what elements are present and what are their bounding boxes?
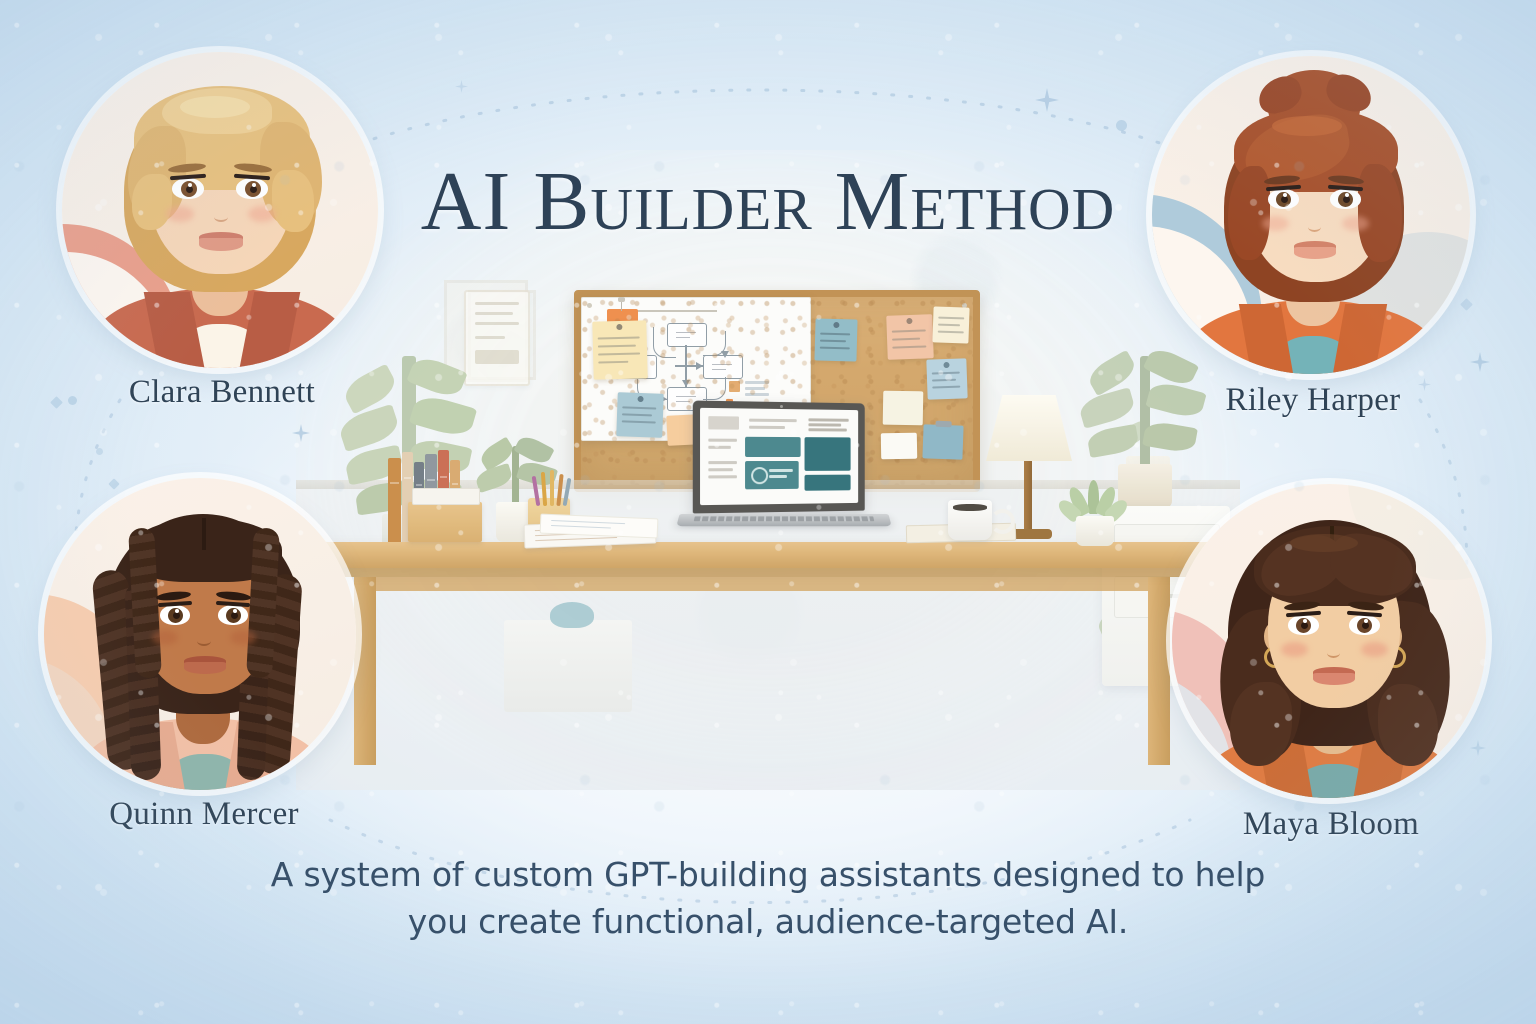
flow-arrow-horizontal	[675, 365, 703, 367]
poster-canvas: AI Builder Method	[0, 0, 1536, 1024]
sticky-note-steel	[922, 424, 963, 459]
flow-node-right	[703, 355, 743, 379]
decor-dot	[96, 448, 103, 455]
sticky-note-yellow	[592, 320, 647, 379]
desk-lamp-stem	[1024, 461, 1032, 533]
sparkle-icon	[1035, 88, 1059, 112]
sticky-note-blue	[616, 392, 664, 438]
decor-diamond	[50, 396, 63, 409]
succulent-plant	[1058, 480, 1130, 546]
assistant-name-clara-bennett: Clara Bennett	[62, 374, 382, 411]
sticky-note-white	[881, 433, 917, 460]
decor-dot	[1116, 120, 1127, 131]
coffee-mug	[948, 500, 992, 540]
avatar-hair-highlight	[1290, 534, 1358, 552]
avatar-hair-highlight	[1272, 116, 1342, 136]
sticky-note-cream	[932, 306, 969, 343]
assistant-name-riley-harper: Riley Harper	[1152, 382, 1474, 419]
page-title: AI Builder Method	[0, 160, 1536, 244]
desk-apron	[354, 577, 1170, 591]
avatar-nose	[197, 636, 211, 646]
subtitle-line-1: A system of custom GPT-building assistan…	[0, 852, 1536, 899]
desk-leg-right	[1148, 577, 1170, 765]
laptop-dashboard	[700, 408, 858, 505]
assistant-name-maya-bloom: Maya Bloom	[1172, 806, 1490, 843]
desk-edge	[302, 568, 1234, 577]
pencil	[550, 470, 554, 506]
page-subtitle: A system of custom GPT-building assistan…	[0, 852, 1536, 946]
flow-node-top	[667, 323, 707, 347]
assistant-name-quinn-mercer: Quinn Mercer	[44, 796, 364, 833]
sticky-note-teal	[814, 318, 857, 361]
avatar-hair-highlight	[180, 96, 250, 118]
sticky-note-lightblue	[926, 358, 967, 399]
avatar-nose	[1327, 648, 1340, 658]
laptop-screen	[693, 401, 865, 514]
paper-stack	[412, 488, 480, 505]
sparkle-icon	[455, 80, 468, 93]
desk-tray	[408, 502, 482, 542]
avatar-hair-part	[202, 518, 206, 550]
assistant-card-quinn-mercer[interactable]: Quinn Mercer	[44, 478, 364, 846]
decor-object	[550, 602, 594, 628]
laptop-camera-icon	[780, 405, 783, 408]
storage-box	[504, 620, 632, 712]
flow-arrow-vertical	[685, 345, 687, 387]
sticky-note-ivory	[883, 391, 924, 426]
assistant-card-maya-bloom[interactable]: Maya Bloom	[1172, 484, 1490, 852]
avatar-quinn-mercer[interactable]	[44, 478, 356, 790]
avatar-maya-bloom[interactable]	[1172, 484, 1486, 798]
subtitle-line-2: you create functional, audience-targeted…	[0, 899, 1536, 946]
sticky-note-salmon	[886, 314, 934, 360]
laptop-keyboard	[676, 514, 891, 526]
